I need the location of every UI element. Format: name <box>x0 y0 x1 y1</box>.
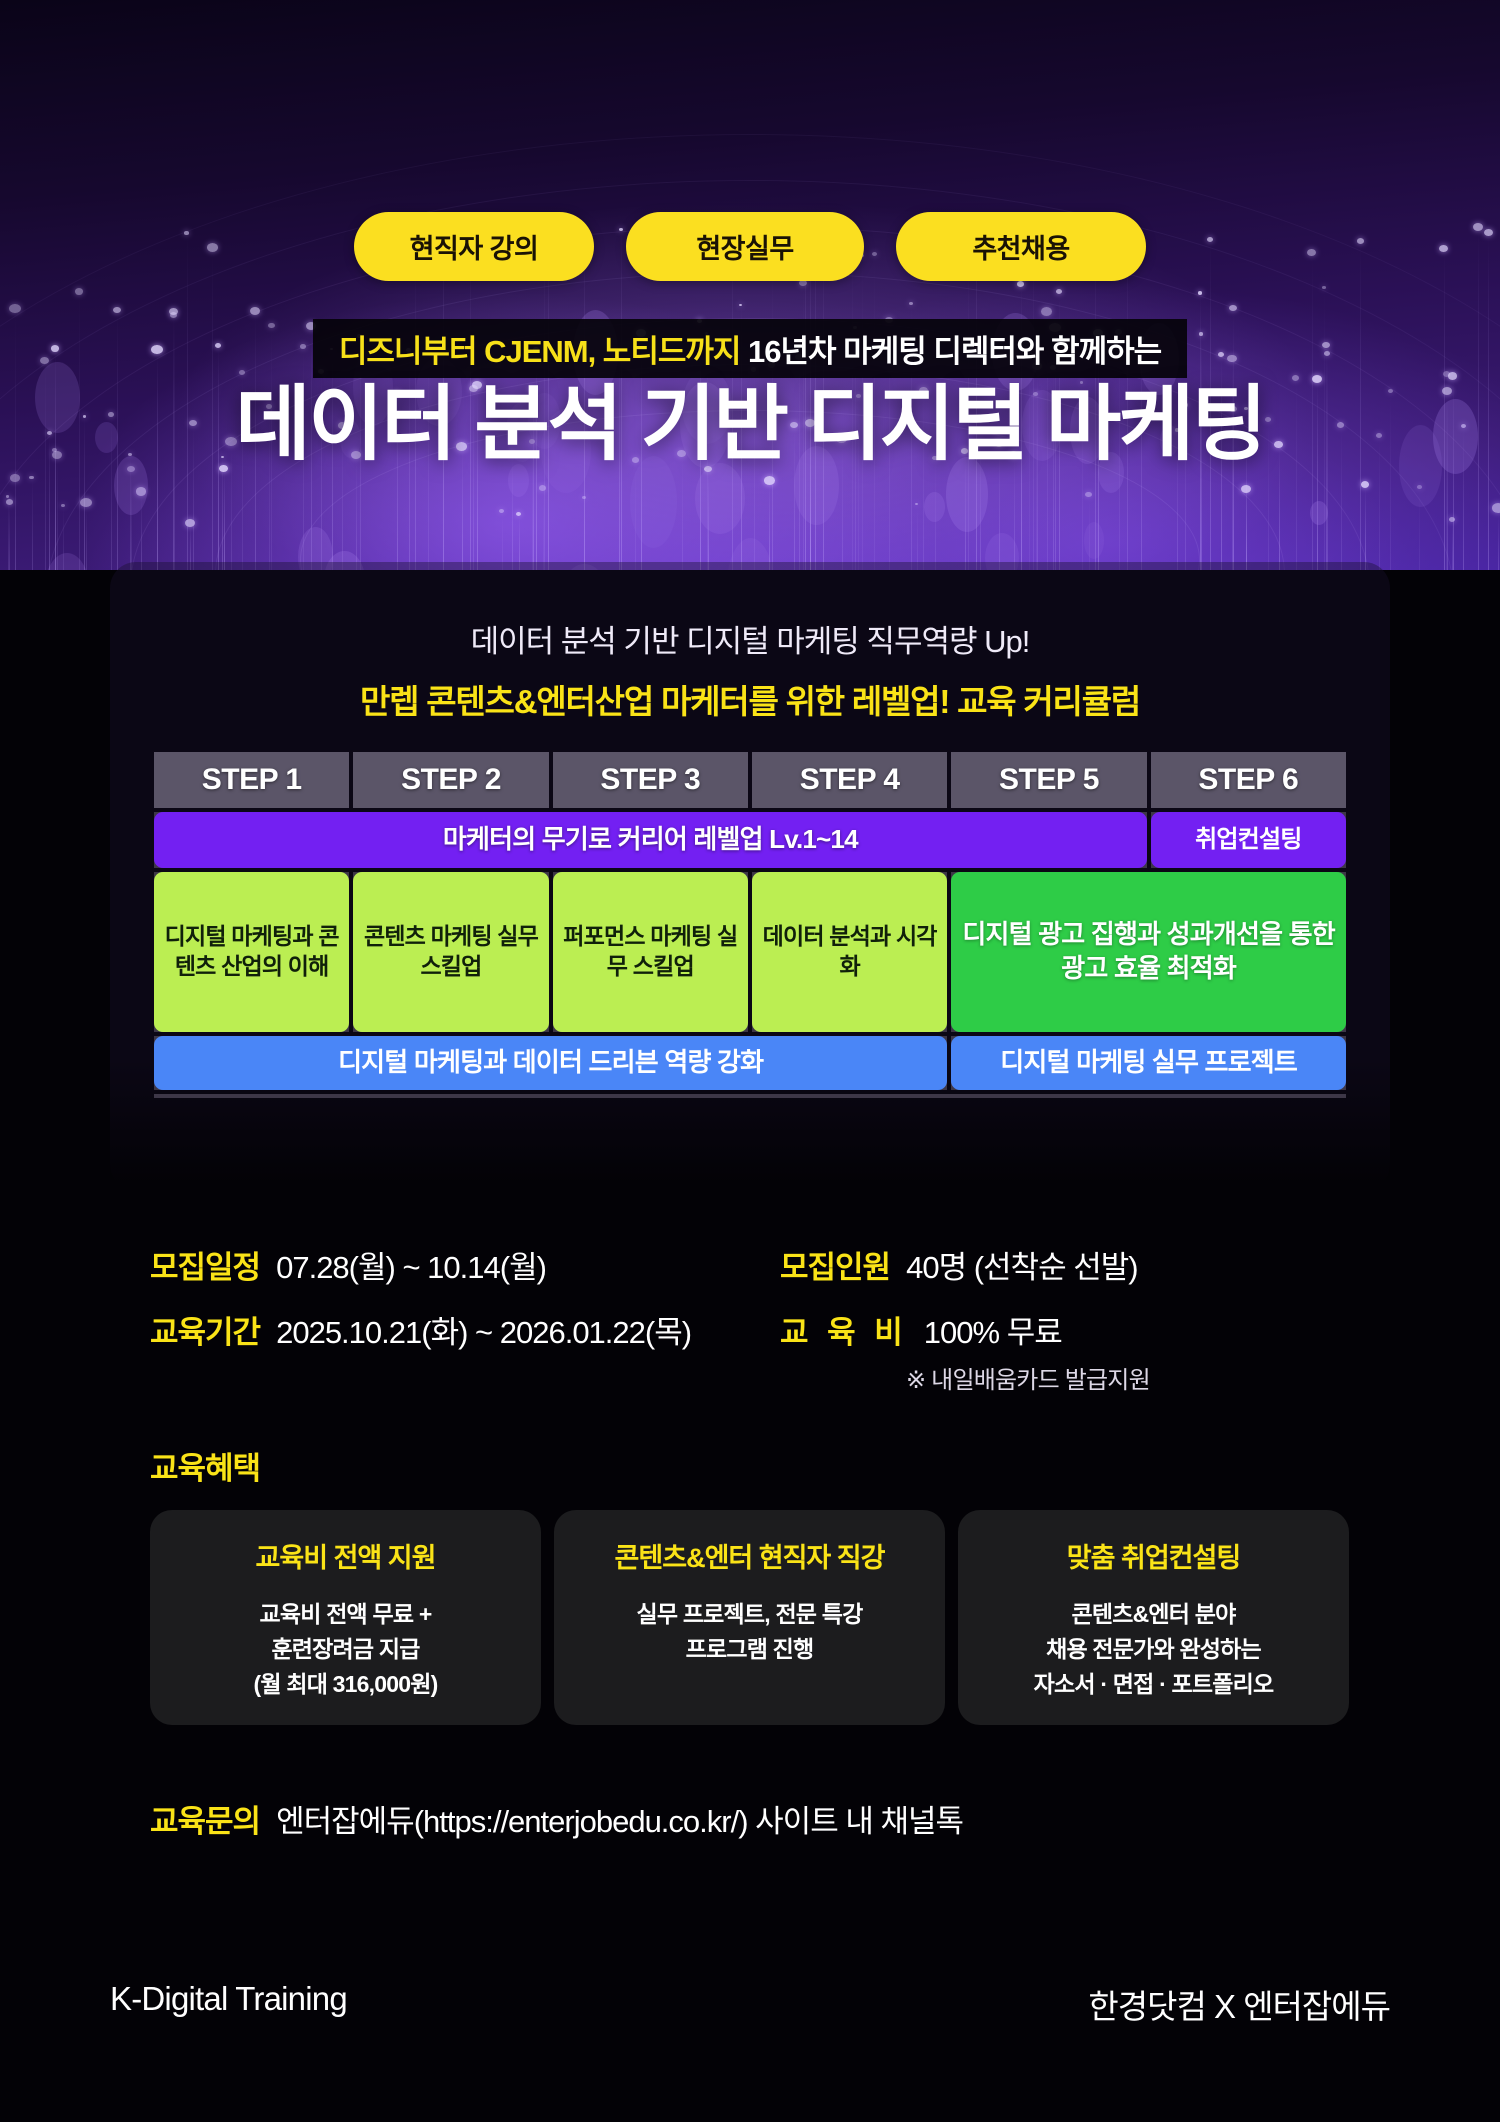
hero-subtitle-bar: 디즈니부터 CJENM, 노티드까지 16년차 마케팅 디렉터와 함께하는 <box>0 318 1500 378</box>
info-note-fee: ※ 내일배움카드 발급지원 <box>906 1360 1150 1395</box>
benefit-card-1-body: 교육비 전액 무료 + 훈련장려금 지급 (월 최대 316,000원) <box>164 1597 527 1702</box>
info-label-period: 교육기간 <box>150 1307 260 1352</box>
benefit-card-3-line-3: 자소서 · 면접 · 포트폴리오 <box>972 1667 1335 1702</box>
benefit-card-3-line-1: 콘텐츠&엔터 분야 <box>972 1597 1335 1632</box>
footer-brand-right: 한경닷컴 X 엔터잡에듀 <box>1088 1980 1390 2028</box>
info-value-recruit: 07.28(월) ~ 10.14(월) <box>276 1242 546 1287</box>
info-row-2: 교육기간 2025.10.21(화) ~ 2026.01.22(목) 교 육 비… <box>150 1307 1380 1395</box>
tag-pill-3: 추천채용 <box>896 212 1146 281</box>
bottom-bar-right-chip: 디지털 마케팅 실무 프로젝트 <box>951 1036 1346 1090</box>
info-item-fee: 교 육 비 100% 무료 ※ 내일배움카드 발급지원 <box>780 1307 1150 1395</box>
hero-subtitle-highlight: 디즈니부터 CJENM, 노티드까지 <box>339 334 741 369</box>
info-value-fee: 100% 무료 <box>924 1307 1062 1352</box>
info-label-fee: 교 육 비 <box>780 1307 908 1352</box>
footer: K-Digital Training 한경닷컴 X 엔터잡에듀 <box>0 1980 1500 2028</box>
benefit-card-2-title: 콘텐츠&엔터 현직자 직강 <box>568 1536 931 1575</box>
hero-background <box>0 0 1500 570</box>
info-row-1: 모집일정 07.28(월) ~ 10.14(월) 모집인원 40명 (선착순 선… <box>150 1242 1380 1287</box>
step-header-5: STEP 5 <box>951 752 1146 808</box>
lead-line-2: 만렙 콘텐츠&엔터산업 마케터를 위한 레벨업! 교육 커리큘럼 <box>0 675 1500 723</box>
footer-brand-left: K-Digital Training <box>110 1980 347 2028</box>
course-cell-3: 퍼포먼스 마케팅 실무 스킬업 <box>553 872 748 1032</box>
info-value-headcount: 40명 (선착순 선발) <box>906 1242 1137 1287</box>
info-item-headcount: 모집인원 40명 (선착순 선발) <box>780 1242 1138 1287</box>
course-cell-2: 콘텐츠 마케팅 실무 스킬업 <box>353 872 548 1032</box>
contact-value[interactable]: 엔터잡에듀(https://enterjobedu.co.kr/) 사이트 내 … <box>276 1796 963 1841</box>
tag-pill-group: 현직자 강의 현장실무 추천채용 <box>0 212 1500 281</box>
course-row: 디지털 마케팅과 콘텐츠 산업의 이해 콘텐츠 마케팅 실무 스킬업 퍼포먼스 … <box>154 872 1346 1032</box>
lead-line-1: 데이터 분석 기반 디지털 마케팅 직무역량 Up! <box>0 616 1500 661</box>
consulting-chip: 취업컨설팅 <box>1151 812 1346 868</box>
page-title: 데이터 분석 기반 디지털 마케팅 <box>0 380 1500 470</box>
benefit-card-1-title: 교육비 전액 지원 <box>164 1536 527 1575</box>
info-label-headcount: 모집인원 <box>780 1242 890 1287</box>
step-header-3: STEP 3 <box>553 752 748 808</box>
step-header-2: STEP 2 <box>353 752 548 808</box>
contact-label: 교육문의 <box>150 1796 260 1841</box>
info-item-recruit: 모집일정 07.28(월) ~ 10.14(월) <box>150 1242 780 1287</box>
benefit-card-3-title: 맞춤 취업컨설팅 <box>972 1536 1335 1575</box>
level-bar-row: 마케터의 무기로 커리어 레벨업 Lv.1~14 취업컨설팅 <box>154 812 1346 868</box>
course-chip-4: 데이터 분석과 시각화 <box>752 872 947 1032</box>
bottom-bar-row: 디지털 마케팅과 데이터 드리븐 역량 강화 디지털 마케팅 실무 프로젝트 <box>154 1036 1346 1090</box>
contact-row: 교육문의 엔터잡에듀(https://enterjobedu.co.kr/) 사… <box>150 1796 963 1841</box>
info-label-recruit: 모집일정 <box>150 1242 260 1287</box>
step-header-1: STEP 1 <box>154 752 349 808</box>
benefit-card-group: 교육비 전액 지원 교육비 전액 무료 + 훈련장려금 지급 (월 최대 316… <box>150 1510 1350 1725</box>
benefit-card-3: 맞춤 취업컨설팅 콘텐츠&엔터 분야 채용 전문가와 완성하는 자소서 · 면접… <box>958 1510 1349 1725</box>
hero-subtitle-inner: 디즈니부터 CJENM, 노티드까지 16년차 마케팅 디렉터와 함께하는 <box>313 319 1187 378</box>
benefit-card-2-line-2: 프로그램 진행 <box>568 1632 931 1667</box>
benefit-card-1: 교육비 전액 지원 교육비 전액 무료 + 훈련장려금 지급 (월 최대 316… <box>150 1510 541 1725</box>
info-grid: 모집일정 07.28(월) ~ 10.14(월) 모집인원 40명 (선착순 선… <box>150 1242 1380 1415</box>
curriculum-table-wrap: STEP 1 STEP 2 STEP 3 STEP 4 STEP 5 STEP … <box>150 748 1350 1102</box>
course-cell-1: 디지털 마케팅과 콘텐츠 산업의 이해 <box>154 872 349 1032</box>
hero-subtitle-rest: 16년차 마케팅 디렉터와 함께하는 <box>748 334 1161 369</box>
info-value-period: 2025.10.21(화) ~ 2026.01.22(목) <box>276 1307 691 1352</box>
course-cell-4: 데이터 분석과 시각화 <box>752 872 947 1032</box>
course-chip-2: 콘텐츠 마케팅 실무 스킬업 <box>353 872 548 1032</box>
table-spacer-cell <box>154 1094 1346 1098</box>
lead-copy: 데이터 분석 기반 디지털 마케팅 직무역량 Up! 만렙 콘텐츠&엔터산업 마… <box>0 616 1500 723</box>
course-chip-1: 디지털 마케팅과 콘텐츠 산업의 이해 <box>154 872 349 1032</box>
benefit-card-2-line-1: 실무 프로젝트, 전문 특강 <box>568 1597 931 1632</box>
benefit-card-1-line-2: 훈련장려금 지급 <box>164 1632 527 1667</box>
bottom-bar-left-chip: 디지털 마케팅과 데이터 드리븐 역량 강화 <box>154 1036 947 1090</box>
step-header-4: STEP 4 <box>752 752 947 808</box>
benefit-card-1-line-3: (월 최대 316,000원) <box>164 1667 527 1702</box>
benefit-card-3-line-2: 채용 전문가와 완성하는 <box>972 1632 1335 1667</box>
benefit-card-2-body: 실무 프로젝트, 전문 특강 프로그램 진행 <box>568 1597 931 1667</box>
benefit-card-3-body: 콘텐츠&엔터 분야 채용 전문가와 완성하는 자소서 · 면접 · 포트폴리오 <box>972 1597 1335 1702</box>
step-header-6: STEP 6 <box>1151 752 1346 808</box>
course-cell-wide: 디지털 광고 집행과 성과개선을 통한 광고 효율 최적화 <box>951 872 1346 1032</box>
bottom-bar-right-cell: 디지털 마케팅 실무 프로젝트 <box>951 1036 1346 1090</box>
step-header-row: STEP 1 STEP 2 STEP 3 STEP 4 STEP 5 STEP … <box>154 752 1346 808</box>
poster-root: 현직자 강의 현장실무 추천채용 디즈니부터 CJENM, 노티드까지 16년차… <box>0 0 1500 2122</box>
benefit-card-2: 콘텐츠&엔터 현직자 직강 실무 프로젝트, 전문 특강 프로그램 진행 <box>554 1510 945 1725</box>
info-fee-line: 교 육 비 100% 무료 <box>780 1307 1150 1352</box>
course-chip-wide: 디지털 광고 집행과 성과개선을 통한 광고 효율 최적화 <box>951 872 1346 1032</box>
consulting-cell: 취업컨설팅 <box>1151 812 1346 868</box>
level-bar-chip: 마케터의 무기로 커리어 레벨업 Lv.1~14 <box>154 812 1147 868</box>
level-bar-cell: 마케터의 무기로 커리어 레벨업 Lv.1~14 <box>154 812 1147 868</box>
table-spacer-row <box>154 1094 1346 1098</box>
info-item-period: 교육기간 2025.10.21(화) ~ 2026.01.22(목) <box>150 1307 780 1395</box>
tag-pill-2: 현장실무 <box>626 212 864 281</box>
tag-pill-1: 현직자 강의 <box>354 212 594 281</box>
course-chip-3: 퍼포먼스 마케팅 실무 스킬업 <box>553 872 748 1032</box>
curriculum-table: STEP 1 STEP 2 STEP 3 STEP 4 STEP 5 STEP … <box>150 748 1350 1102</box>
benefits-heading: 교육혜택 <box>150 1443 260 1488</box>
benefit-card-1-line-1: 교육비 전액 무료 + <box>164 1597 527 1632</box>
bottom-bar-left-cell: 디지털 마케팅과 데이터 드리븐 역량 강화 <box>154 1036 947 1090</box>
